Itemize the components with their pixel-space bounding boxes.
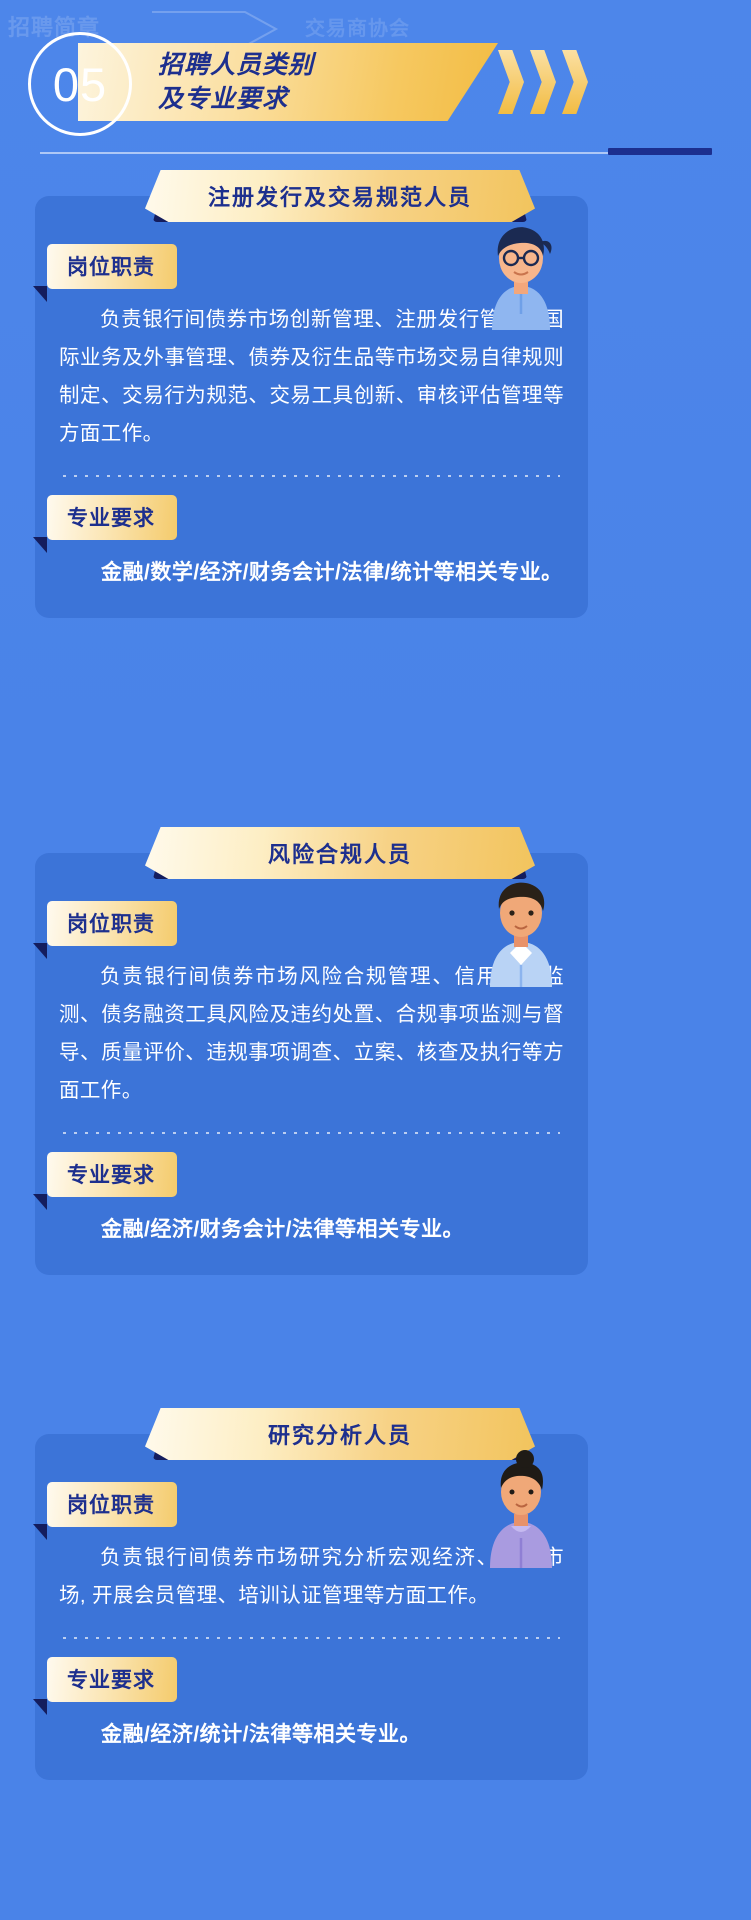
section-title: 招聘人员类别 及专业要求 <box>158 48 488 116</box>
section-number-badge: 05 <box>28 32 132 136</box>
card-title: 研究分析人员 <box>268 1418 412 1450</box>
duty-label-wrap: 岗位职责 <box>47 244 177 289</box>
duty-label: 岗位职责 <box>47 1482 177 1527</box>
chevron-right-icon-2 <box>530 50 556 114</box>
major-text: 金融/经济/统计/法律等相关专业。 <box>59 1716 564 1754</box>
pill-tail-shape <box>33 1194 47 1210</box>
section-header: 05 招聘人员类别 及专业要求 <box>0 20 751 120</box>
major-label-wrap: 专业要求 <box>47 1152 177 1197</box>
major-label-wrap: 专业要求 <box>47 1657 177 1702</box>
major-label: 专业要求 <box>47 1657 177 1702</box>
major-label-wrap: 专业要求 <box>47 495 177 540</box>
dotted-divider <box>63 1132 560 1134</box>
pill-tail-shape <box>33 1524 47 1540</box>
pill-tail-shape <box>33 286 47 302</box>
job-card-registration: 注册发行及交易规范人员 岗位职责 负责银行间债券市场创新管理、注册发行管理、国际… <box>35 196 588 618</box>
header-divider-accent <box>608 148 712 155</box>
major-text: 金融/数学/经济/财务会计/法律/统计等相关专业。 <box>59 554 564 592</box>
avatar-male-glasses-icon <box>462 212 580 330</box>
section-title-line1: 招聘人员类别 <box>158 48 488 82</box>
duty-label: 岗位职责 <box>47 901 177 946</box>
duty-label-wrap: 岗位职责 <box>47 901 177 946</box>
avatar-female-bun-icon <box>462 1450 580 1568</box>
pill-tail-shape <box>33 943 47 959</box>
section-number: 05 <box>53 57 107 112</box>
card-title: 注册发行及交易规范人员 <box>208 180 472 212</box>
duty-label-wrap: 岗位职责 <box>47 1482 177 1527</box>
dotted-divider <box>63 475 560 477</box>
major-text: 金融/经济/财务会计/法律等相关专业。 <box>59 1211 564 1249</box>
poster-page: 招聘简章 交易商协会 05 招聘人员类别 及专业要求 注册发行及交易规范人员 <box>0 0 751 1920</box>
major-label-row: 专业要求 <box>47 1657 564 1708</box>
avatar-male-shirt-icon <box>462 869 580 987</box>
section-title-line2: 及专业要求 <box>158 82 488 116</box>
job-card-risk-compliance: 风险合规人员 岗位职责 负责银行间债券市场风险合规管理、信用风险监测、债务融资工… <box>35 853 588 1275</box>
major-label: 专业要求 <box>47 495 177 540</box>
major-label-row: 专业要求 <box>47 1152 564 1203</box>
dotted-divider <box>63 1637 560 1639</box>
pill-tail-shape <box>33 1699 47 1715</box>
major-label-row: 专业要求 <box>47 495 564 546</box>
card-title: 风险合规人员 <box>268 837 412 869</box>
job-card-research-analysis: 研究分析人员 岗位职责 负责银行间债券市场研究分析宏观经济、金融市场, 开展会员… <box>35 1434 588 1780</box>
pill-tail-shape <box>33 537 47 553</box>
chevron-right-icon-3 <box>562 50 588 114</box>
chevron-right-icon-1 <box>498 50 524 114</box>
duty-label: 岗位职责 <box>47 244 177 289</box>
major-label: 专业要求 <box>47 1152 177 1197</box>
